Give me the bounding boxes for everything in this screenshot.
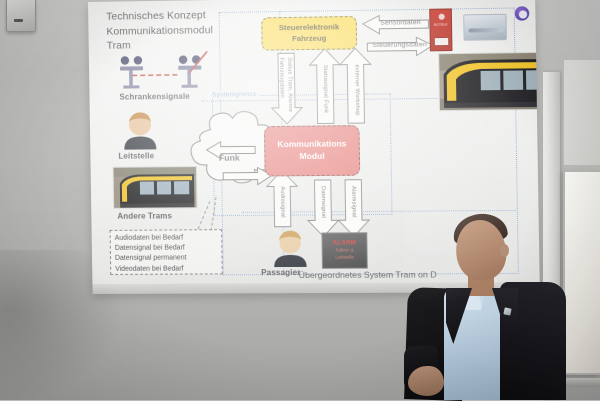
onboard-unit-device-photo bbox=[463, 14, 507, 41]
box-komm-modul-line-1: Kommunikations bbox=[277, 139, 346, 152]
tram-vehicle-photo bbox=[438, 52, 540, 111]
actor-label-passagier: Passagier bbox=[261, 268, 300, 277]
box-kommunikations-modul: Kommunikations Modul bbox=[264, 125, 360, 176]
alarm-line-2: Fahrer & bbox=[335, 248, 353, 254]
arrow-label-fahrzeugdaten: Fahrzeugdaten bbox=[278, 57, 285, 98]
alarm-line-3: Leitstelle bbox=[335, 255, 354, 261]
wall-mounted-speaker-icon bbox=[6, 0, 36, 32]
arrow-label-audiosignal: Audiosignal bbox=[279, 186, 286, 217]
arrow-label-externer-workshop: externer Workshop bbox=[353, 64, 360, 115]
emergency-box-button bbox=[434, 37, 450, 46]
arrow-label-statussignal-funk: Statussignal Funk bbox=[322, 65, 329, 113]
arrow-label-alarmsignal: Alarmsignal bbox=[350, 186, 357, 218]
arrow-label-datensignal: Datensignal bbox=[320, 186, 327, 218]
presenter-lapel-pin bbox=[503, 307, 511, 315]
presenter-hand bbox=[408, 366, 444, 396]
box-komm-modul-line-2: Modul bbox=[278, 151, 347, 164]
box-steuerelektronik-line-2: Fahrzeug bbox=[279, 33, 340, 44]
presenter-person bbox=[404, 196, 600, 400]
emergency-call-box-icon: NOTRUF bbox=[429, 8, 452, 51]
box-steuerelektronik-line-1: Steuerelektronik bbox=[279, 23, 340, 34]
person-avatar-icon-passagier bbox=[271, 229, 310, 268]
wall-panel bbox=[563, 60, 600, 165]
box-steuerelektronik-fahrzeug: Steuerelektronik Fahrzeug bbox=[261, 16, 357, 51]
alarm-display: ALARM Fahrer & Leitstelle bbox=[321, 232, 367, 269]
alarm-title: ALARM bbox=[333, 240, 357, 246]
arrow-label-sensordaten: Sensordaten bbox=[380, 19, 421, 27]
presenter-ear bbox=[500, 244, 509, 257]
arrow-label-steuerungsdaten: Steuerungsdaten bbox=[372, 41, 427, 49]
emergency-box-label: NOTRUF bbox=[433, 23, 449, 27]
arrow-label-status-tram-alarme: Status Tram, Alarme bbox=[286, 57, 293, 112]
emergency-box-indicator bbox=[439, 14, 445, 20]
